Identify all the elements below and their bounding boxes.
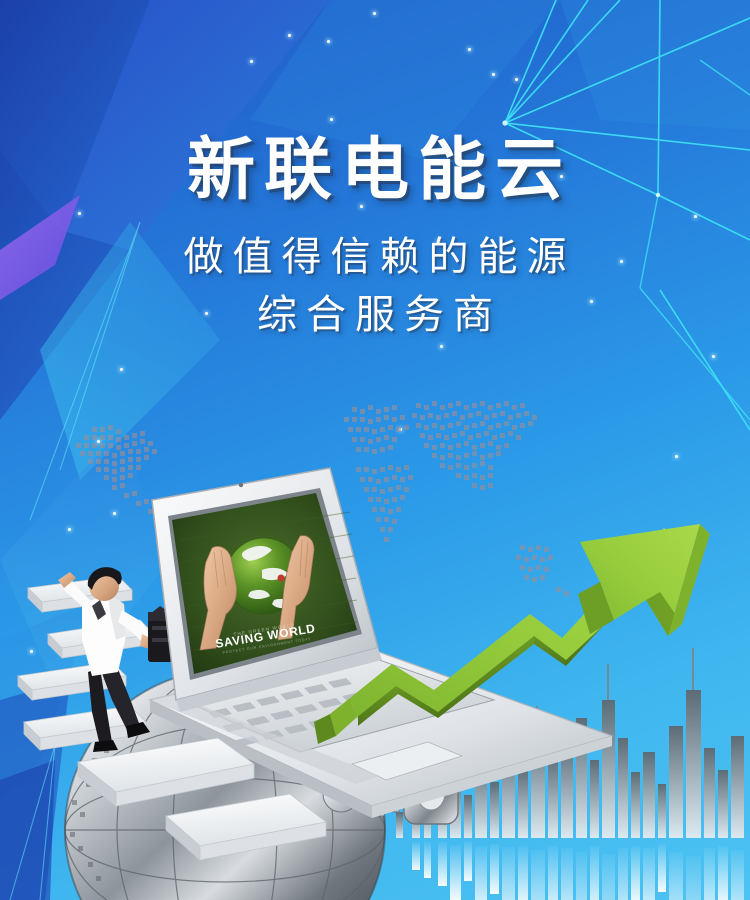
headline-block: 新联电能云 做值得信赖的能源 综合服务商 bbox=[0, 135, 750, 344]
page-title: 新联电能云 bbox=[0, 135, 750, 206]
tagline-line-2: 综合服务商 bbox=[0, 286, 750, 344]
tagline-line-1: 做值得信赖的能源 bbox=[0, 228, 750, 286]
promo-banner: 新联电能云 做值得信赖的能源 综合服务商 bbox=[0, 0, 750, 900]
tagline: 做值得信赖的能源 综合服务商 bbox=[0, 228, 750, 344]
